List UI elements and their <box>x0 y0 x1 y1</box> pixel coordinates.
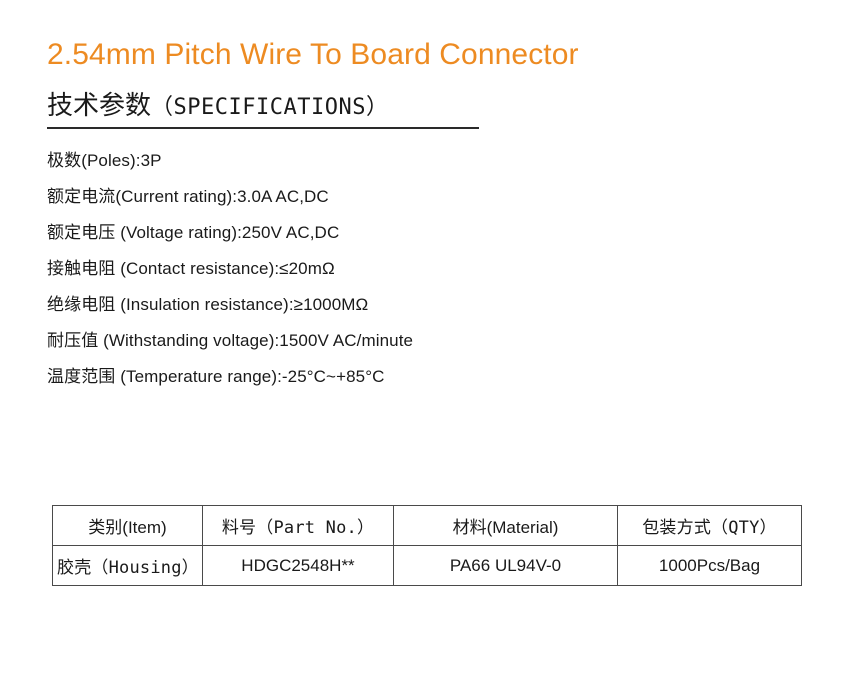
section-heading-en: （SPECIFICATIONS） <box>151 95 388 120</box>
spec-line-temperature-range: 温度范围 (Temperature range):-25°C~+85°C <box>47 359 607 395</box>
table-cell-item-housing: 胶壳（Housing） <box>53 546 203 586</box>
table-cell-material: PA66 UL94V-0 <box>394 546 618 586</box>
table-header-material: 材料(Material) <box>394 506 618 546</box>
spec-line-current-rating: 额定电流(Current rating):3.0A AC,DC <box>47 179 607 215</box>
table-cell-qty: 1000Pcs/Bag <box>618 546 802 586</box>
spec-line-insulation-resistance: 绝缘电阻 (Insulation resistance):≥1000MΩ <box>47 287 607 323</box>
spec-line-poles: 极数(Poles):3P <box>47 143 607 179</box>
spec-line-withstanding-voltage: 耐压值 (Withstanding voltage):1500V AC/minu… <box>47 323 607 359</box>
datasheet-page: 2.54mm Pitch Wire To Board Connector 技术参… <box>0 0 860 699</box>
table-header-item: 类别(Item) <box>53 506 203 546</box>
section-heading-cjk: 技术参数 <box>47 90 151 120</box>
section-heading-rule <box>47 127 479 129</box>
page-title: 2.54mm Pitch Wire To Board Connector <box>47 36 579 74</box>
section-heading-text: 技术参数（SPECIFICATIONS） <box>47 88 479 125</box>
table-header-qty: 包装方式（QTY） <box>618 506 802 546</box>
part-specification-table: 类别(Item) 料号（Part No.） 材料(Material) 包装方式（… <box>52 505 802 586</box>
table-row: 胶壳（Housing） HDGC2548H** PA66 UL94V-0 100… <box>53 546 802 586</box>
table-cell-part-no: HDGC2548H** <box>203 546 394 586</box>
specification-list: 极数(Poles):3P 额定电流(Current rating):3.0A A… <box>47 143 607 395</box>
spec-line-contact-resistance: 接触电阻 (Contact resistance):≤20mΩ <box>47 251 607 287</box>
spec-line-voltage-rating: 额定电压 (Voltage rating):250V AC,DC <box>47 215 607 251</box>
table-header-part-no: 料号（Part No.） <box>203 506 394 546</box>
table-header-row: 类别(Item) 料号（Part No.） 材料(Material) 包装方式（… <box>53 506 802 546</box>
specifications-section-heading: 技术参数（SPECIFICATIONS） <box>47 88 479 125</box>
